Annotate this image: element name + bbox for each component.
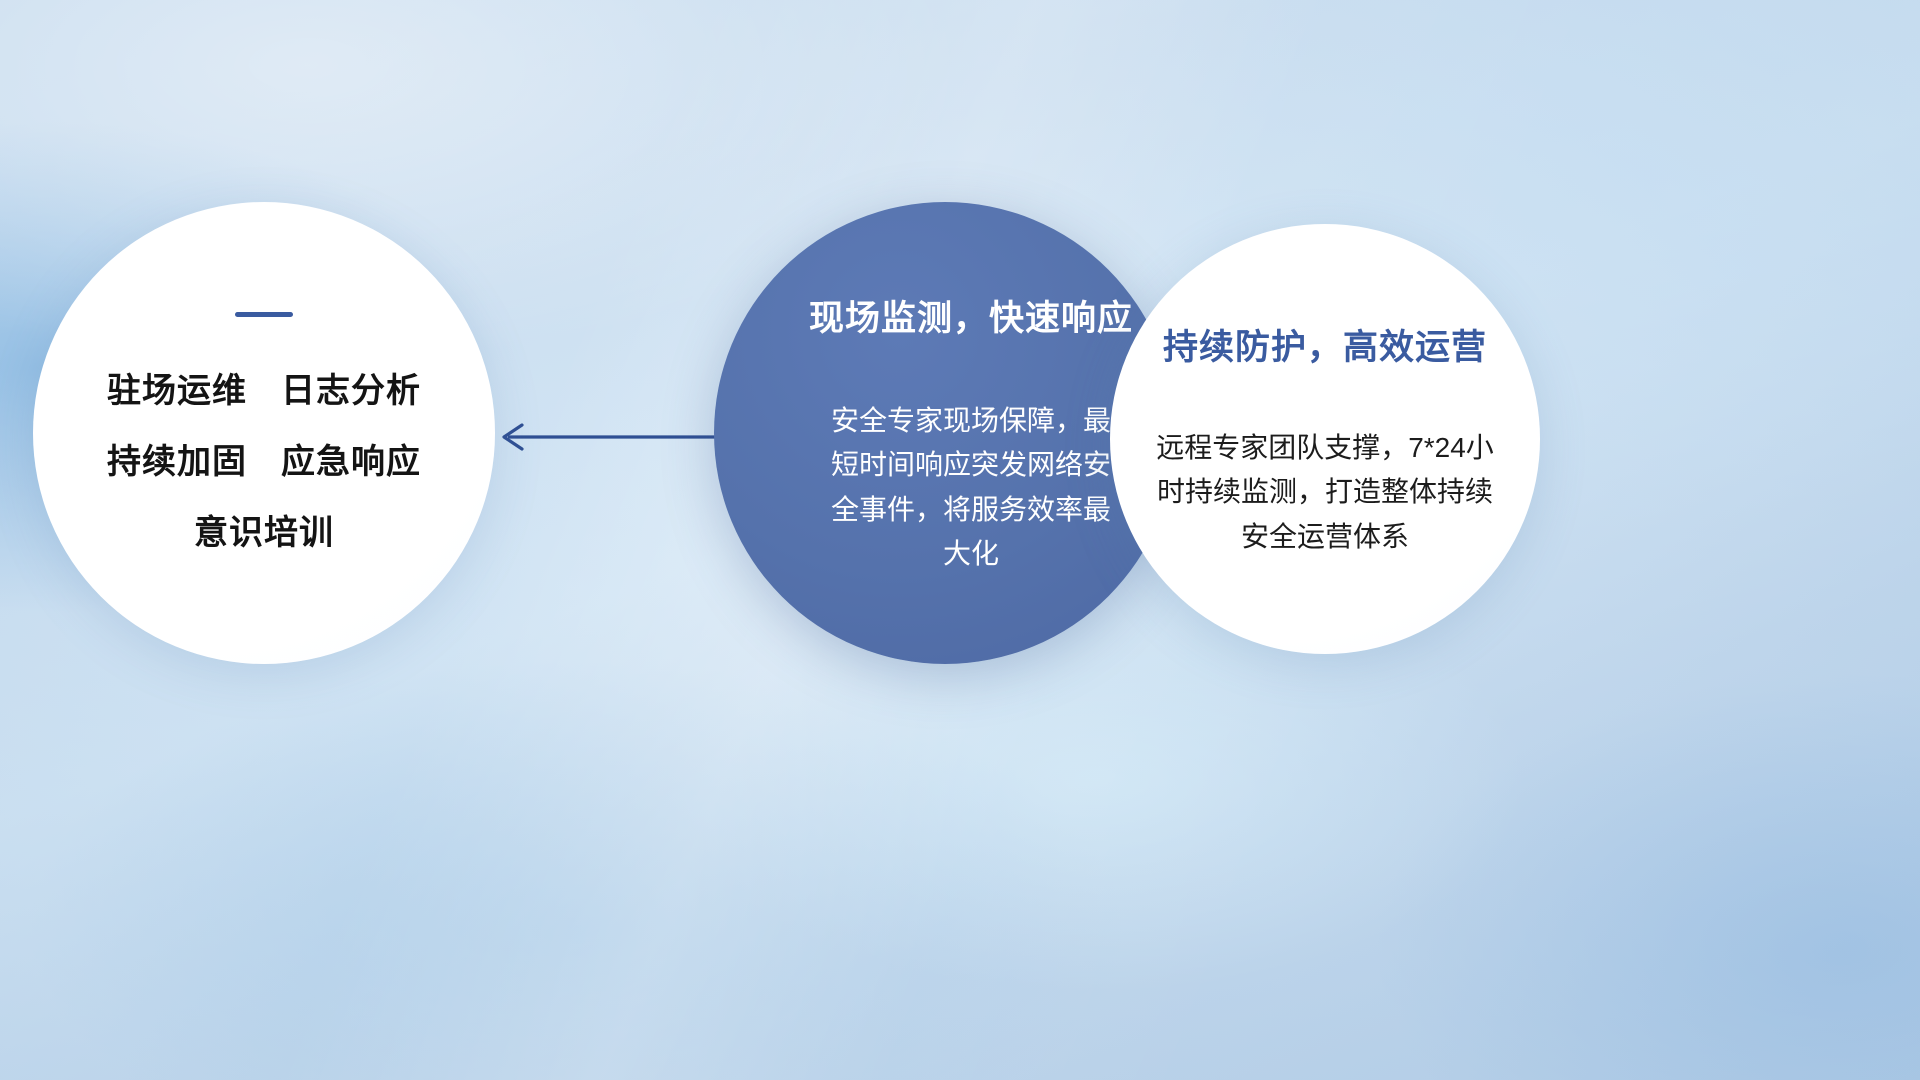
capability-row: 意识培训 [107, 505, 421, 554]
diagram-stage: 驻场运维 日志分析 持续加固 应急响应 意识培训 现场监测，快速响应 安全专家现… [0, 0, 1920, 1080]
onsite-monitoring-circle[interactable]: 现场监测，快速响应 安全专家现场保障，最短时间响应突发网络安全事件，将服务效率最… [714, 202, 1176, 664]
onsite-title: 现场监测，快速响应 [809, 290, 1133, 341]
capabilities-circle[interactable]: 驻场运维 日志分析 持续加固 应急响应 意识培训 [33, 202, 495, 664]
capability-item: 日志分析 [281, 363, 421, 412]
onsite-body: 安全专家现场保障，最短时间响应突发网络安全事件，将服务效率最大化 [821, 399, 1121, 576]
capability-row: 驻场运维 日志分析 [107, 363, 421, 412]
accent-rule-divider [235, 312, 293, 317]
continuous-body: 远程专家团队支撑，7*24小时持续监测，打造整体持续安全运营体系 [1149, 426, 1501, 559]
capability-item: 意识培训 [194, 505, 334, 554]
capability-item: 持续加固 [107, 434, 247, 483]
continuous-protection-circle[interactable]: 持续防护，高效运营 远程专家团队支撑，7*24小时持续监测，打造整体持续安全运营… [1110, 224, 1540, 654]
capability-row: 持续加固 应急响应 [107, 434, 421, 483]
capability-item: 驻场运维 [107, 363, 247, 412]
capability-list: 驻场运维 日志分析 持续加固 应急响应 意识培训 [107, 363, 421, 554]
capability-item: 应急响应 [281, 434, 421, 483]
continuous-title: 持续防护，高效运营 [1163, 319, 1487, 370]
